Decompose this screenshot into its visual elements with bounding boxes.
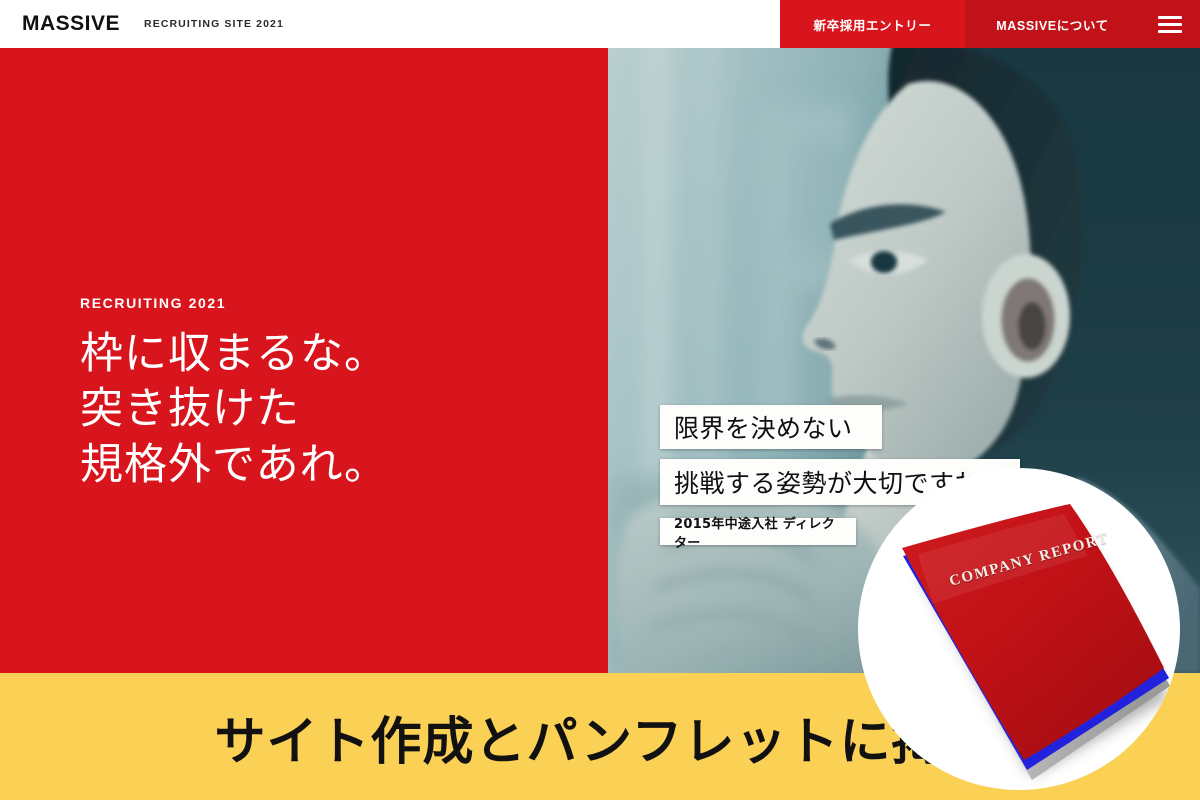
site-logo[interactable]: MASSIVE	[22, 12, 120, 36]
hero-headline-line-1: 枠に収まるな。	[80, 327, 388, 382]
hero-eyebrow: RECRUITING 2021	[80, 295, 388, 311]
company-report-badge: COMPANY REPORT	[858, 468, 1180, 790]
site-header: MASSIVE RECRUITING SITE 2021 新卒採用エントリー M…	[0, 0, 1200, 48]
page-root: MASSIVE RECRUITING SITE 2021 新卒採用エントリー M…	[0, 0, 1200, 800]
hamburger-icon	[1158, 16, 1182, 33]
nav-item-new-grad-entry[interactable]: 新卒採用エントリー	[780, 0, 965, 48]
hero-red-panel: RECRUITING 2021 枠に収まるな。 突き抜けた 規格外であれ。	[0, 48, 608, 673]
nav-item-about-massive[interactable]: MASSIVEについて	[965, 0, 1140, 48]
menu-button[interactable]	[1140, 0, 1200, 48]
quote-caption-1: 限界を決めない	[660, 405, 882, 449]
quote-byline: 2015年中途入社 ディレクター	[660, 518, 856, 545]
brand-block[interactable]: MASSIVE RECRUITING SITE 2021	[22, 0, 284, 48]
site-tagline: RECRUITING SITE 2021	[144, 18, 284, 30]
company-report-booklet-image	[858, 468, 1180, 790]
hero-copy-block: RECRUITING 2021 枠に収まるな。 突き抜けた 規格外であれ。	[80, 295, 388, 493]
primary-nav: 新卒採用エントリー MASSIVEについて	[780, 0, 1200, 48]
hero-headline-line-3: 規格外であれ。	[80, 438, 388, 493]
hero-headline-line-2: 突き抜けた	[80, 382, 388, 437]
